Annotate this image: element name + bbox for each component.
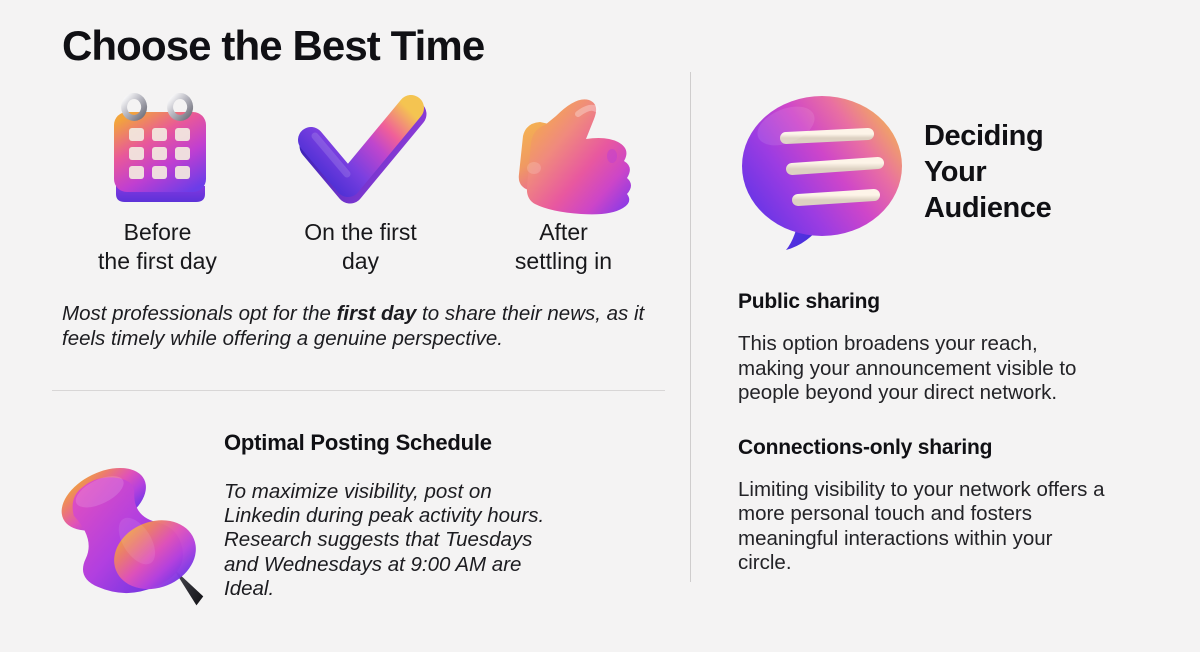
schedule-text-block: Optimal Posting Schedule To maximize vis… [224, 430, 554, 601]
lead-text-before: Most professionals opt for the [62, 302, 337, 325]
lead-text-emphasis: first day [337, 302, 417, 325]
share-body: This option broadens your reach, making … [738, 332, 1108, 406]
share-block-public: Public sharing This option broadens your… [738, 290, 1108, 406]
vertical-divider [690, 72, 691, 582]
checkmark-icon [281, 90, 441, 210]
timing-steps: Before the first day [56, 90, 666, 276]
share-body: Limiting visibility to your network offe… [738, 478, 1108, 576]
share-block-connections-only: Connections-only sharing Limiting visibi… [738, 436, 1108, 576]
page-title: Choose the Best Time [62, 22, 484, 70]
step-label: After settling in [515, 218, 612, 276]
schedule-title: Optimal Posting Schedule [224, 430, 554, 456]
share-title: Connections-only sharing [738, 436, 1108, 460]
sharing-options: Public sharing This option broadens your… [738, 290, 1108, 576]
step-label: Before the first day [98, 218, 217, 276]
pushpin-icon [58, 448, 228, 623]
horizontal-divider [52, 390, 665, 391]
calendar-icon [78, 90, 238, 210]
schedule-body: To maximize visibility, post on Linkedin… [224, 480, 554, 601]
lead-paragraph: Most professionals opt for the first day… [62, 302, 662, 351]
share-title: Public sharing [738, 290, 1108, 314]
infographic-canvas: Choose the Best Time [0, 0, 1200, 652]
audience-title: Deciding Your Audience [924, 118, 1051, 226]
speech-bubble-icon [738, 90, 908, 255]
step-label: On the first day [304, 218, 416, 276]
step-on-first-day: On the first day [259, 90, 462, 276]
audience-header: Deciding Your Audience [736, 88, 1156, 258]
step-before-first-day: Before the first day [56, 90, 259, 276]
thumbs-up-icon [484, 90, 644, 210]
step-after-settling-in: After settling in [462, 90, 665, 276]
